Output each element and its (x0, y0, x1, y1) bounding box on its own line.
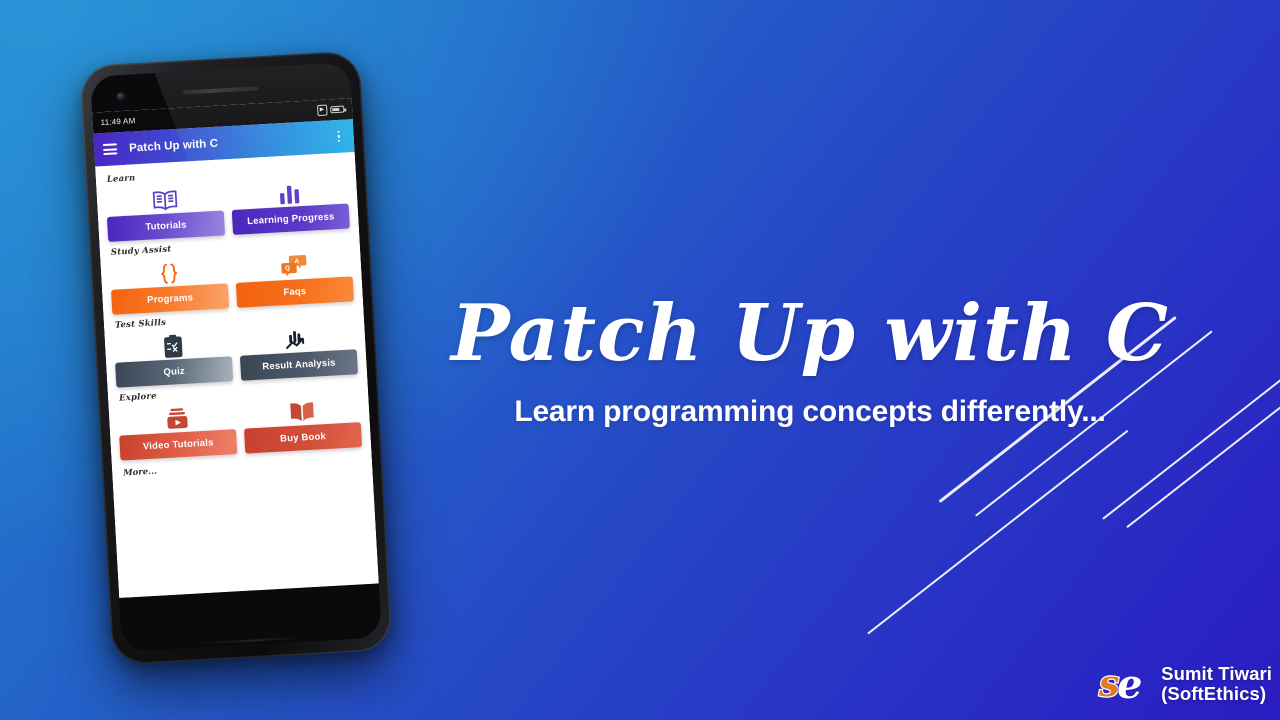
phone-body: 11:49 AM ▶ Patch Up with C (79, 51, 392, 666)
section-grid-test-skills: Quiz (113, 319, 358, 387)
tile-label-learning-progress[interactable]: Learning Progress (232, 203, 350, 234)
status-bar-icons: ▶ (317, 104, 345, 116)
tile-label-tutorials[interactable]: Tutorials (107, 210, 225, 241)
app-screen: 11:49 AM ▶ Patch Up with C (92, 98, 379, 598)
tile-label-faqs[interactable]: Faqs (236, 276, 354, 307)
hero-title: Patch Up with C (440, 295, 1180, 373)
tile-programs[interactable]: Programs (109, 253, 229, 314)
tile-label-buy-book[interactable]: Buy Book (244, 422, 362, 453)
app-title: Patch Up with C (129, 131, 321, 154)
hero-subtitle: Learn programming concepts differently..… (440, 395, 1180, 429)
more-label[interactable]: More... (123, 455, 363, 478)
tile-tutorials[interactable]: Tutorials (105, 181, 225, 242)
tile-learning-progress[interactable]: Learning Progress (230, 174, 350, 235)
tile-video-tutorials[interactable]: Video Tutorials (117, 399, 237, 460)
app-content: Learn Tutorials (95, 152, 379, 598)
tile-label-video-tutorials[interactable]: Video Tutorials (119, 429, 237, 460)
tile-quiz[interactable]: Quiz (113, 326, 233, 387)
screen-record-icon: ▶ (317, 105, 328, 116)
hero-text-block: Patch Up with C Learn programming concep… (440, 295, 1180, 429)
section-grid-explore: Video Tutorials Buy Book (117, 392, 362, 460)
svg-text:e: e (1117, 662, 1142, 706)
tile-label-quiz[interactable]: Quiz (115, 356, 233, 387)
phone-mockup: 11:49 AM ▶ Patch Up with C (79, 51, 392, 666)
tile-faqs[interactable]: A Q Faqs (234, 246, 354, 307)
brand-name: Sumit Tiwari (SoftEthics) (1161, 664, 1272, 705)
svg-text:A: A (294, 258, 299, 265)
tile-label-programs[interactable]: Programs (111, 283, 229, 314)
svg-text:Q: Q (284, 265, 289, 272)
brand-name-line1: Sumit Tiwari (1161, 664, 1272, 684)
earpiece-speaker (183, 86, 259, 94)
section-grid-study-assist: Programs A Q Faqs (109, 246, 354, 314)
hamburger-menu-icon[interactable] (103, 143, 118, 155)
streak-line (867, 430, 1128, 634)
battery-icon (330, 106, 344, 114)
brand-lockup: s e Sumit Tiwari (SoftEthics) (1097, 662, 1272, 706)
front-camera-icon (117, 93, 124, 100)
tile-label-result-analysis[interactable]: Result Analysis (240, 349, 358, 380)
status-bar-time: 11:49 AM (100, 116, 135, 127)
kebab-menu-icon[interactable] (332, 130, 345, 142)
softethics-logo-icon: s e (1097, 662, 1151, 706)
phone-screen-area: 11:49 AM ▶ Patch Up with C (90, 62, 382, 652)
tile-result-analysis[interactable]: Result Analysis (238, 319, 358, 380)
brand-name-line2: (SoftEthics) (1161, 684, 1272, 704)
section-grid-learn: Tutorials Learning Progress (105, 174, 350, 242)
tile-buy-book[interactable]: Buy Book (242, 392, 362, 453)
